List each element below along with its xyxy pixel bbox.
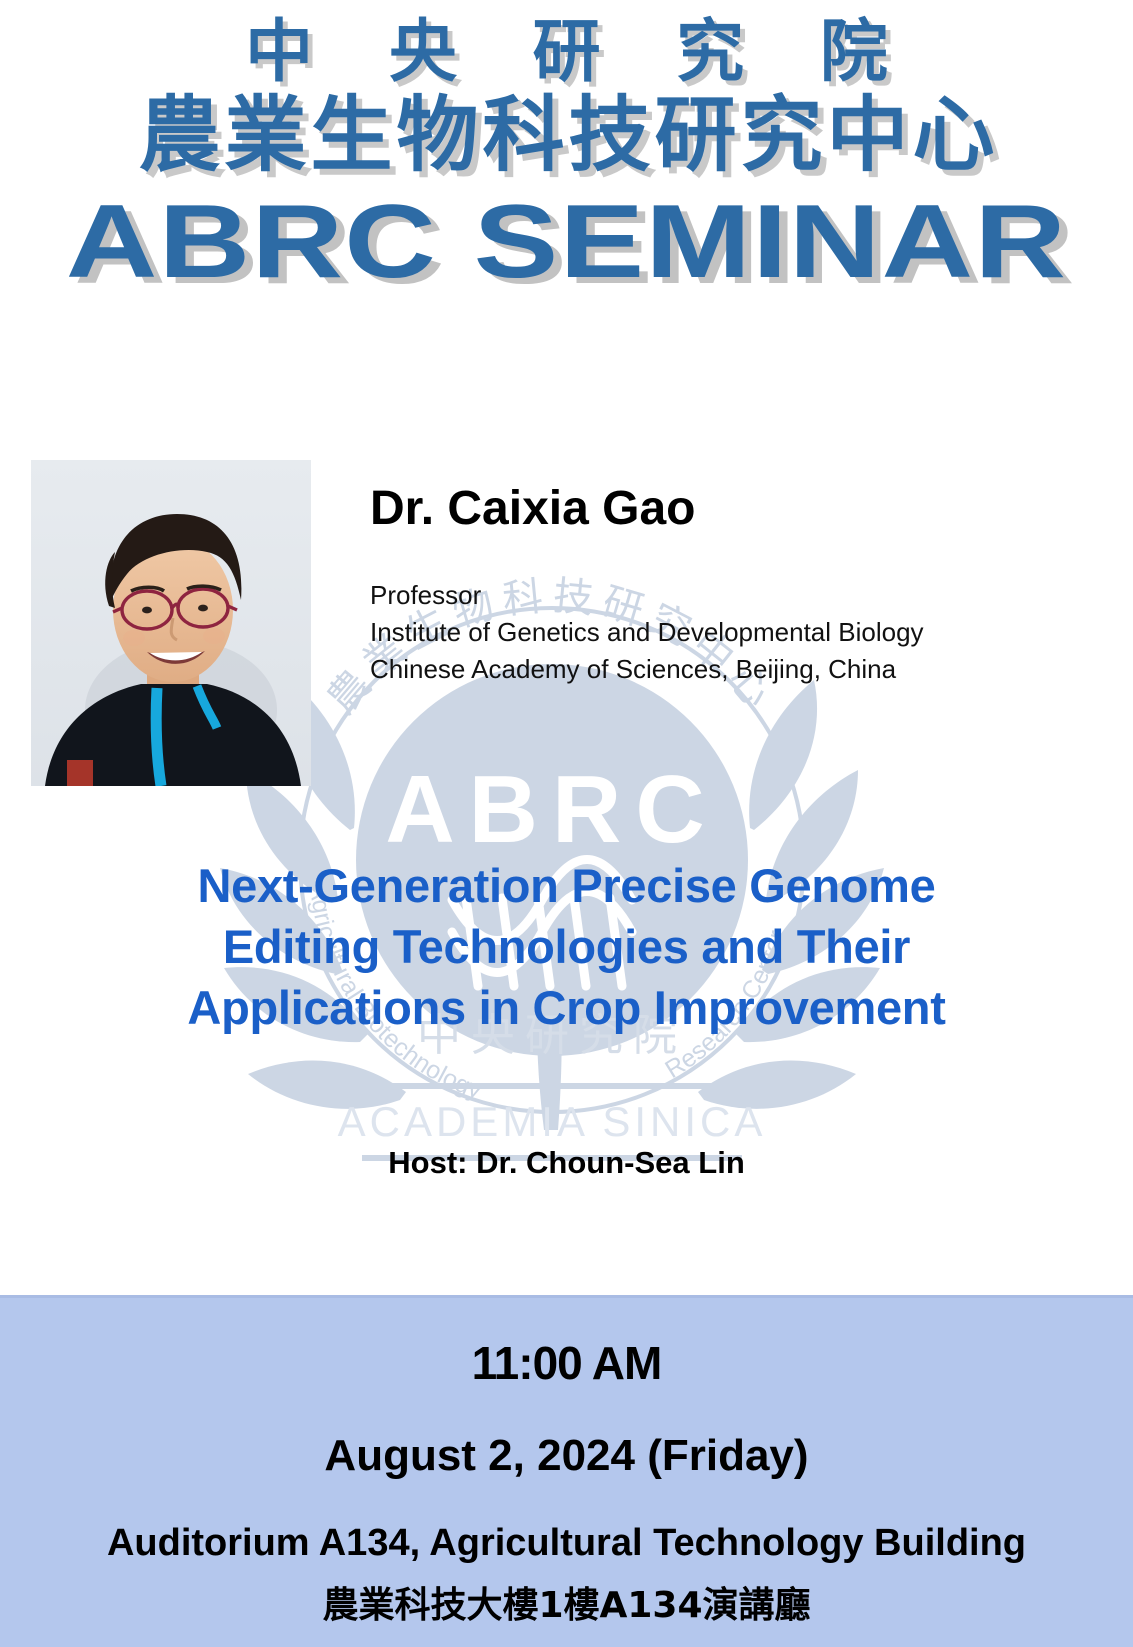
talk-title-line3: Applications in Crop Improvement — [0, 977, 1133, 1038]
speaker-name: Dr. Caixia Gao — [370, 485, 1100, 533]
organization-name-zh-line2: 農業生物科技研究中心 — [0, 92, 1133, 178]
poster-header: 中 央 研 究 院 農業生物科技研究中心 ABRC SEMINAR — [0, 0, 1133, 294]
logo-acronym-text: ABRC — [385, 756, 718, 863]
talk-title: Next-Generation Precise Genome Editing T… — [0, 855, 1133, 1038]
event-date: August 2, 2024 (Friday) — [0, 1434, 1133, 1478]
speaker-details: Dr. Caixia Gao Professor Institute of Ge… — [370, 485, 1100, 688]
event-venue-en: Auditorium A134, Agricultural Technology… — [0, 1524, 1133, 1562]
organization-name-zh-line1: 中 央 研 究 院 — [0, 18, 1133, 86]
speaker-affiliation-line1: Institute of Genetics and Developmental … — [370, 614, 1100, 651]
event-venue-zh: 農業科技大樓1樓A134演講廳 — [0, 1588, 1133, 1624]
logo-footer-text: ACADEMIA SINICA — [338, 1098, 767, 1145]
event-time: 11:00 AM — [0, 1340, 1133, 1386]
seminar-series-title: ABRC SEMINAR — [0, 190, 1133, 294]
host-line: Host: Dr. Choun-Sea Lin — [0, 1145, 1133, 1181]
talk-title-line2: Editing Technologies and Their — [0, 916, 1133, 977]
speaker-portrait — [31, 460, 311, 786]
talk-title-line1: Next-Generation Precise Genome — [0, 855, 1133, 916]
event-details-banner: 11:00 AM August 2, 2024 (Friday) Auditor… — [0, 1295, 1133, 1647]
speaker-rank: Professor — [370, 577, 1100, 614]
speaker-affiliation-line2: Chinese Academy of Sciences, Beijing, Ch… — [370, 651, 1100, 688]
